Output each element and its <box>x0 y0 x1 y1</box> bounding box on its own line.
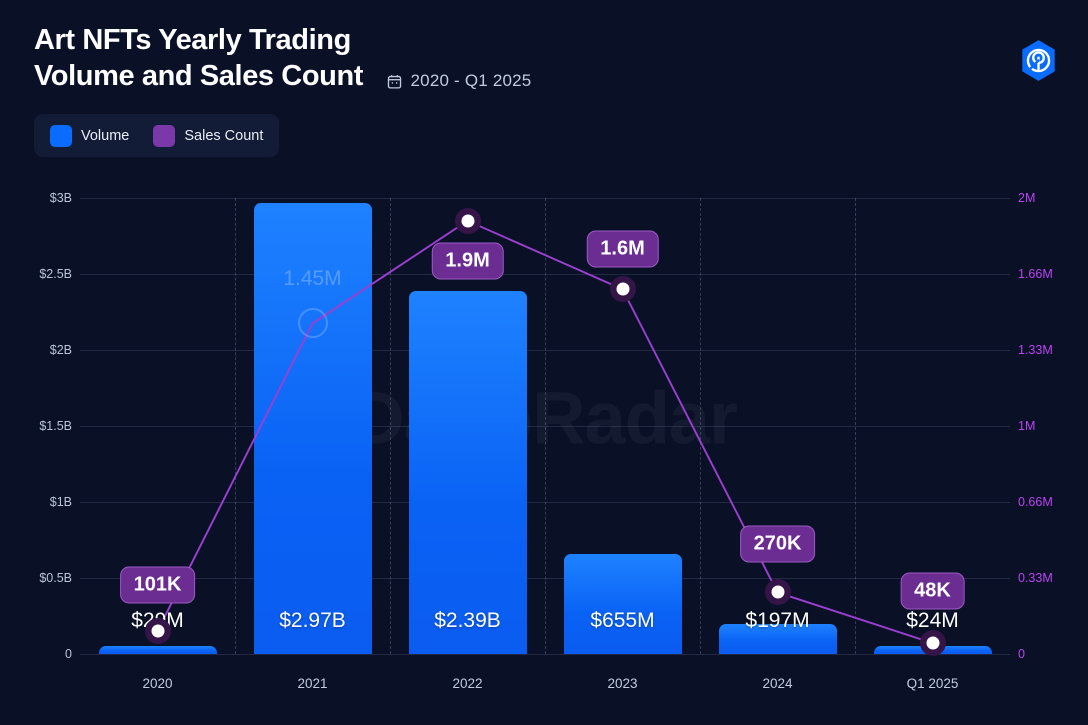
sales-count-label: 270K <box>740 526 816 563</box>
x-axis-label: 2023 <box>607 676 637 691</box>
legend-item-sales-count[interactable]: Sales Count <box>153 125 263 147</box>
legend-swatch-volume <box>50 125 72 147</box>
x-axis-label: Q1 2025 <box>907 676 959 691</box>
sales-count-label: 1.6M <box>586 231 658 268</box>
x-axis-label: 2020 <box>142 676 172 691</box>
sales-count-point-dot <box>926 637 939 650</box>
sales-count-point-dot <box>461 214 474 227</box>
date-range: 2020 - Q1 2025 <box>386 71 532 94</box>
page-title-line2: Volume and Sales Count <box>34 60 363 92</box>
y-axis-tick-right: 0.66M <box>1018 495 1082 509</box>
y-axis-tick-left: $3B <box>0 191 72 205</box>
sales-count-point[interactable] <box>298 308 328 338</box>
chart-page: Art NFTs Yearly TradingVolume and Sales … <box>0 0 1088 725</box>
legend-label-sales-count: Sales Count <box>184 128 263 144</box>
x-axis-label: 2024 <box>762 676 792 691</box>
gridline-horizontal <box>80 654 1010 655</box>
volume-bar-label: $2.39B <box>434 609 501 633</box>
sales-count-point-dot <box>616 283 629 296</box>
y-axis-tick-right: 1M <box>1018 419 1082 433</box>
y-axis-tick-left: $0.5B <box>0 571 72 585</box>
y-axis-tick-left: $2B <box>0 343 72 357</box>
x-axis-label: 2022 <box>452 676 482 691</box>
gridline-vertical-dashed <box>235 198 236 654</box>
legend-swatch-sales-count <box>153 125 175 147</box>
volume-bar-label: $655M <box>590 609 654 633</box>
sales-count-label: 101K <box>120 566 196 603</box>
sales-count-point-dot <box>771 586 784 599</box>
chart-legend: Volume Sales Count <box>34 114 279 157</box>
plot-area <box>80 198 1010 654</box>
y-axis-tick-right: 1.66M <box>1018 267 1082 281</box>
y-axis-tick-right: 2M <box>1018 191 1082 205</box>
sales-count-point-dot <box>151 624 164 637</box>
y-axis-tick-left: $1.5B <box>0 419 72 433</box>
y-axis-tick-right: 1.33M <box>1018 343 1082 357</box>
chart-header: Art NFTs Yearly TradingVolume and Sales … <box>34 22 1054 94</box>
y-axis-tick-right: 0 <box>1018 647 1082 661</box>
date-range-text: 2020 - Q1 2025 <box>411 71 532 91</box>
gridline-vertical-dashed <box>545 198 546 654</box>
gridline-vertical-dashed <box>855 198 856 654</box>
sales-count-label: 1.45M <box>283 267 341 291</box>
gridline-vertical-dashed <box>700 198 701 654</box>
dappradar-logo[interactable] <box>1016 38 1061 83</box>
y-axis-tick-left: $2.5B <box>0 267 72 281</box>
legend-label-volume: Volume <box>81 128 129 144</box>
y-axis-tick-left: $1B <box>0 495 72 509</box>
sales-count-label: 48K <box>900 573 965 610</box>
calendar-icon <box>386 73 403 90</box>
y-axis-tick-right: 0.33M <box>1018 571 1082 585</box>
volume-bar[interactable] <box>409 291 527 654</box>
x-axis-label: 2021 <box>297 676 327 691</box>
page-title: Art NFTs Yearly TradingVolume and Sales … <box>34 22 363 94</box>
volume-bar[interactable] <box>564 554 682 654</box>
legend-item-volume[interactable]: Volume <box>50 125 129 147</box>
volume-bar[interactable] <box>99 646 217 654</box>
gridline-vertical-dashed <box>390 198 391 654</box>
volume-bar-label: $2.97B <box>279 609 346 633</box>
volume-bar-label: $197M <box>745 609 809 633</box>
sales-count-label: 1.9M <box>431 242 503 279</box>
page-title-line1: Art NFTs Yearly Trading <box>34 24 351 56</box>
y-axis-tick-left: 0 <box>0 647 72 661</box>
